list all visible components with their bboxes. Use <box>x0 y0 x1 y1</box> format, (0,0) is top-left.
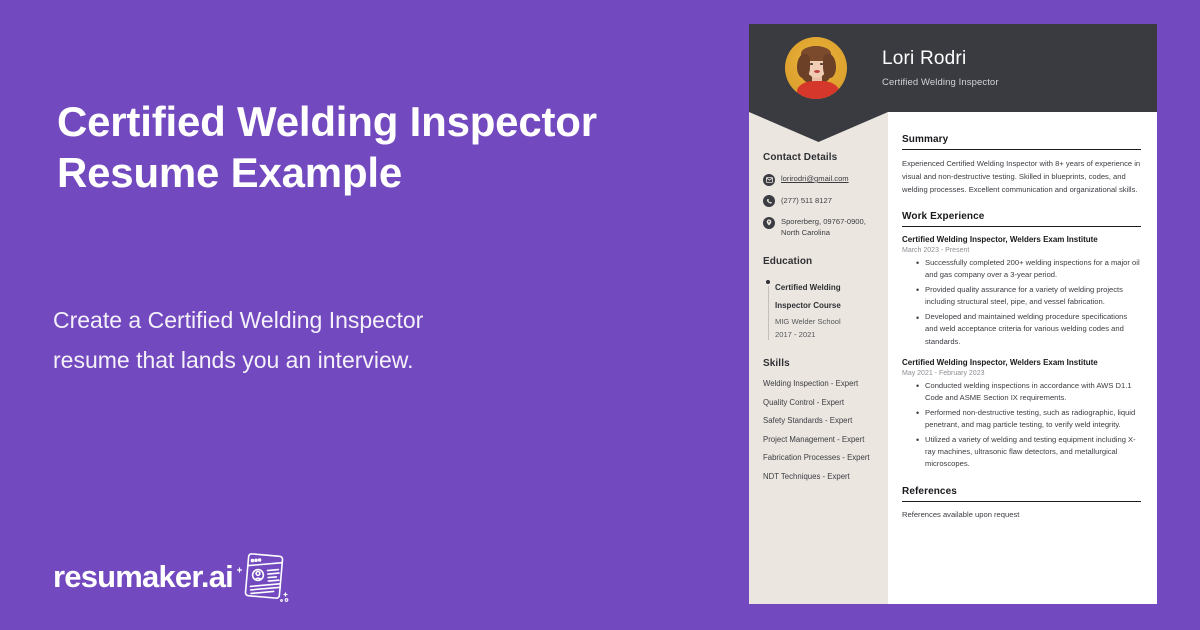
envelope-icon <box>763 174 775 186</box>
summary-text: Experienced Certified Welding Inspector … <box>902 157 1141 196</box>
skills-section: Skills Welding Inspection - Expert Quali… <box>763 358 874 481</box>
job-title: Certified Welding Inspector, Welders Exa… <box>902 357 1141 368</box>
avatar <box>785 37 847 99</box>
references-text: References available upon request <box>902 509 1141 521</box>
resume-main-column: Summary Experienced Certified Welding In… <box>888 112 1157 604</box>
summary-heading: Summary <box>902 134 1141 150</box>
education-heading: Education <box>763 256 874 267</box>
skill-item: NDT Techniques - Expert <box>763 472 874 481</box>
contact-row-address[interactable]: Sporerberg, 09767-0900, North Carolina <box>763 216 874 238</box>
contact-phone-text: (277) 511 8127 <box>781 195 832 206</box>
job-bullet: Performed non-destructive testing, such … <box>916 407 1141 432</box>
references-section: References References available upon req… <box>902 486 1141 521</box>
job-bullet: Utilized a variety of welding and testin… <box>916 434 1141 471</box>
job-bullet-list: Successfully completed 200+ welding insp… <box>902 257 1141 348</box>
job-bullet: Conducted welding inspections in accorda… <box>916 380 1141 405</box>
skill-item: Welding Inspection - Expert <box>763 379 874 388</box>
promo-headline: Certified Welding Inspector Resume Examp… <box>57 97 677 199</box>
job-entry: Certified Welding Inspector, Welders Exa… <box>902 234 1141 348</box>
education-school: MIG Welder School <box>775 317 874 328</box>
summary-section: Summary Experienced Certified Welding In… <box>902 134 1141 196</box>
resume-document-icon <box>235 551 291 603</box>
job-bullet: Provided quality assurance for a variety… <box>916 284 1141 309</box>
resume-body: Contact Details lorirodri@gmail.com (277… <box>749 112 1157 604</box>
contact-row-phone[interactable]: (277) 511 8127 <box>763 195 874 208</box>
job-dates: March 2023 - Present <box>902 247 1141 254</box>
logo-wordmark: resumaker.ai <box>53 559 233 595</box>
resumaker-logo[interactable]: resumaker.ai <box>53 551 291 603</box>
contact-details-section: Contact Details lorirodri@gmail.com (277… <box>763 152 874 238</box>
resume-sidebar: Contact Details lorirodri@gmail.com (277… <box>749 112 888 604</box>
education-title: Certified Welding Inspector Course <box>775 283 841 310</box>
contact-row-email[interactable]: lorirodri@gmail.com <box>763 173 874 186</box>
contact-address-text: Sporerberg, 09767-0900, North Carolina <box>781 216 874 238</box>
work-experience-heading: Work Experience <box>902 211 1141 227</box>
work-experience-section: Work Experience Certified Welding Inspec… <box>902 211 1141 471</box>
job-title: Certified Welding Inspector, Welders Exa… <box>902 234 1141 245</box>
education-section: Education Certified Welding Inspector Co… <box>763 256 874 340</box>
job-dates: May 2021 - February 2023 <box>902 370 1141 377</box>
skills-heading: Skills <box>763 358 874 369</box>
contact-email-text: lorirodri@gmail.com <box>781 173 849 184</box>
promo-panel: Certified Welding Inspector Resume Examp… <box>0 0 749 630</box>
education-timeline-marker <box>763 277 773 340</box>
job-entry: Certified Welding Inspector, Welders Exa… <box>902 357 1141 471</box>
job-bullet-list: Conducted welding inspections in accorda… <box>902 380 1141 471</box>
skill-item: Safety Standards - Expert <box>763 416 874 425</box>
resume-name: Lori Rodri <box>882 48 999 70</box>
phone-icon <box>763 195 775 207</box>
education-dates: 2017 - 2021 <box>775 330 874 341</box>
resume-preview-card[interactable]: Lori Rodri Certified Welding Inspector C… <box>749 24 1157 604</box>
job-bullet: Successfully completed 200+ welding insp… <box>916 257 1141 282</box>
education-item: Certified Welding Inspector Course MIG W… <box>763 277 874 340</box>
resume-role: Certified Welding Inspector <box>882 77 999 88</box>
skill-item: Fabrication Processes - Expert <box>763 453 874 462</box>
promo-subhead: Create a Certified Welding Inspector res… <box>53 300 453 381</box>
skill-item: Quality Control - Expert <box>763 398 874 407</box>
contact-details-heading: Contact Details <box>763 152 874 163</box>
resume-header: Lori Rodri Certified Welding Inspector <box>749 24 1157 112</box>
job-bullet: Developed and maintained welding procedu… <box>916 311 1141 348</box>
location-pin-icon <box>763 217 775 229</box>
references-heading: References <box>902 486 1141 502</box>
skill-item: Project Management - Expert <box>763 435 874 444</box>
